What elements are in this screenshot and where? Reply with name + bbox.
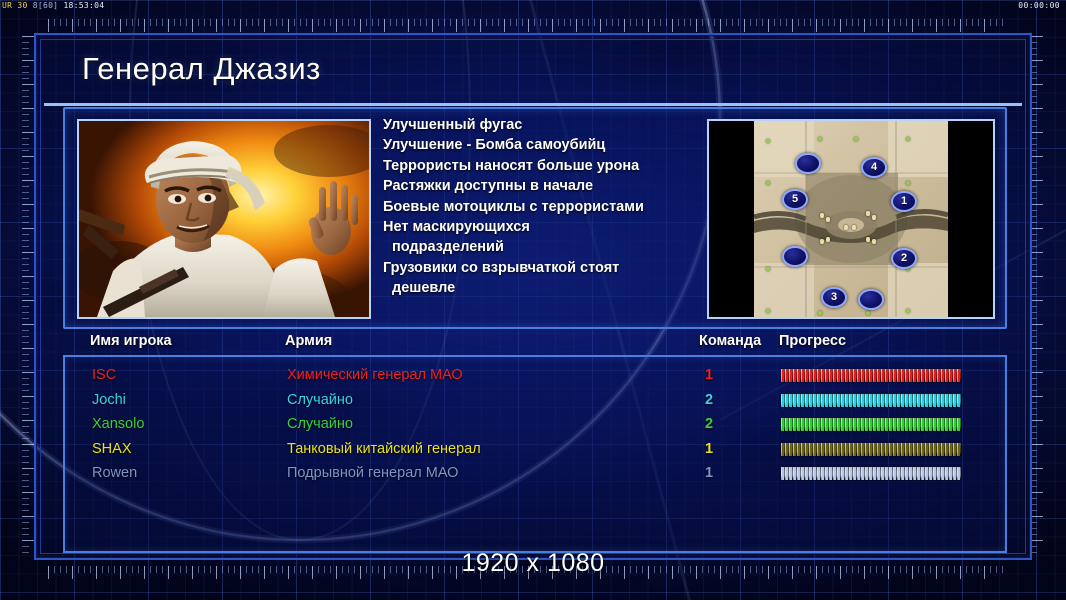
minimap-oil-derrick: [826, 237, 830, 242]
minimap-supply-dock: [906, 137, 910, 141]
description-line: Улучшенный фугас: [383, 115, 683, 135]
minimap-oil-derrick: [820, 213, 824, 218]
table-row: RowenПодрывной генерал МАО1: [65, 465, 1005, 489]
minimap-start-position[interactable]: 5: [782, 189, 808, 210]
player-name: Rowen: [92, 465, 137, 481]
resolution-label: 1920 x 1080: [0, 549, 1066, 578]
player-army: Подрывной генерал МАО: [287, 465, 458, 481]
minimap-terrain: [754, 121, 948, 317]
frame-ruler-right: [1030, 36, 1044, 556]
loading-screen-window: Генерал Джазиз: [34, 33, 1032, 560]
hud-game-timer: 00:00:00: [1018, 1, 1060, 10]
header-player-name: Имя игрока: [90, 333, 172, 349]
player-name: Xansolo: [92, 416, 144, 432]
minimap-oil-derrick: [872, 239, 876, 244]
minimap-supply-dock: [906, 309, 910, 313]
minimap-start-position[interactable]: 4: [861, 157, 887, 178]
player-team: 1: [705, 441, 713, 457]
player-progress-bar: [781, 394, 961, 407]
minimap-supply-dock: [818, 311, 822, 315]
minimap-start-position[interactable]: [795, 153, 821, 174]
player-army: Случайно: [287, 392, 353, 408]
description-line: Растяжки доступны в начале: [383, 176, 683, 196]
player-army: Случайно: [287, 416, 353, 432]
minimap-oil-derrick: [844, 225, 848, 230]
player-progress-fill: [781, 369, 961, 382]
player-army: Химический генерал МАО: [287, 367, 463, 383]
minimap-oil-derrick: [872, 215, 876, 220]
player-team: 2: [705, 392, 713, 408]
minimap-frame: 45123: [707, 119, 995, 319]
player-team: 1: [705, 465, 713, 481]
hud-segment-0: UR: [2, 1, 12, 10]
description-line: Улучшение - Бомба самоубийц: [383, 135, 683, 155]
minimap-start-position[interactable]: [858, 289, 884, 310]
header-team: Команда: [699, 333, 761, 349]
hud-segment-1: 30: [17, 1, 27, 10]
player-progress-fill: [781, 418, 961, 431]
minimap-supply-dock: [766, 309, 770, 313]
minimap-start-position[interactable]: [782, 246, 808, 267]
page-title: Генерал Джазиз: [82, 51, 321, 87]
player-team: 1: [705, 367, 713, 383]
player-progress-bar: [781, 467, 961, 480]
player-progress-fill: [781, 443, 961, 456]
player-progress-bar: [781, 369, 961, 382]
minimap-supply-dock: [766, 139, 770, 143]
minimap-supply-dock: [866, 311, 870, 315]
minimap-image: 45123: [754, 121, 948, 317]
minimap-supply-dock: [906, 181, 910, 185]
minimap-oil-derrick: [866, 211, 870, 216]
player-progress-fill: [781, 394, 961, 407]
player-progress-bar: [781, 418, 961, 431]
player-name: ISC: [92, 367, 116, 383]
minimap-supply-dock: [818, 137, 822, 141]
hud-segment-2: 8[60]: [33, 1, 59, 10]
frame-ruler-top: [48, 19, 1008, 33]
hud-segment-3: 18:53:04: [63, 1, 104, 10]
description-line: Грузовики со взрывчаткой стоят: [383, 258, 683, 278]
hud-performance-overlay: UR 30 8[60] 18:53:04: [2, 1, 104, 10]
player-team: 2: [705, 416, 713, 432]
description-line: Нет маскирующихся: [383, 217, 683, 237]
minimap-oil-derrick: [852, 225, 856, 230]
minimap-supply-dock: [766, 181, 770, 185]
general-portrait-image: [79, 121, 369, 317]
description-line: Террористы наносят больше урона: [383, 156, 683, 176]
general-portrait-frame: [77, 119, 371, 319]
minimap-oil-derrick: [866, 237, 870, 242]
header-army: Армия: [285, 333, 332, 349]
description-line: Боевые мотоциклы с террористами: [383, 197, 683, 217]
player-progress-bar: [781, 443, 961, 456]
player-progress-fill: [781, 467, 961, 480]
minimap-oil-derrick: [826, 217, 830, 222]
minimap-start-position[interactable]: 1: [891, 191, 917, 212]
minimap-supply-dock: [766, 267, 770, 271]
general-description: Улучшенный фугасУлучшение - Бомба самоуб…: [383, 115, 683, 299]
description-line: дешевле: [383, 278, 683, 298]
player-name: Jochi: [92, 392, 126, 408]
header-progress: Прогресс: [779, 333, 846, 349]
player-army: Танковый китайский генерал: [287, 441, 481, 457]
minimap-oil-derrick: [820, 239, 824, 244]
player-table-header: Имя игрока Армия Команда Прогресс: [63, 333, 1003, 355]
table-row: XansoloСлучайно2: [65, 416, 1005, 440]
table-row: JochiСлучайно2: [65, 392, 1005, 416]
minimap-start-position[interactable]: 3: [821, 287, 847, 308]
player-name: SHAX: [92, 441, 132, 457]
table-row: SHAXТанковый китайский генерал1: [65, 441, 1005, 465]
general-info-panel: Улучшенный фугасУлучшение - Бомба самоуб…: [63, 107, 1007, 329]
description-line: подразделений: [383, 237, 683, 257]
minimap-start-position[interactable]: 2: [891, 248, 917, 269]
minimap-supply-dock: [854, 137, 858, 141]
player-list-panel: ISCХимический генерал МАО1JochiСлучайно2…: [63, 355, 1007, 553]
title-bar: Генерал Джазиз: [44, 43, 1022, 106]
table-row: ISCХимический генерал МАО1: [65, 367, 1005, 391]
